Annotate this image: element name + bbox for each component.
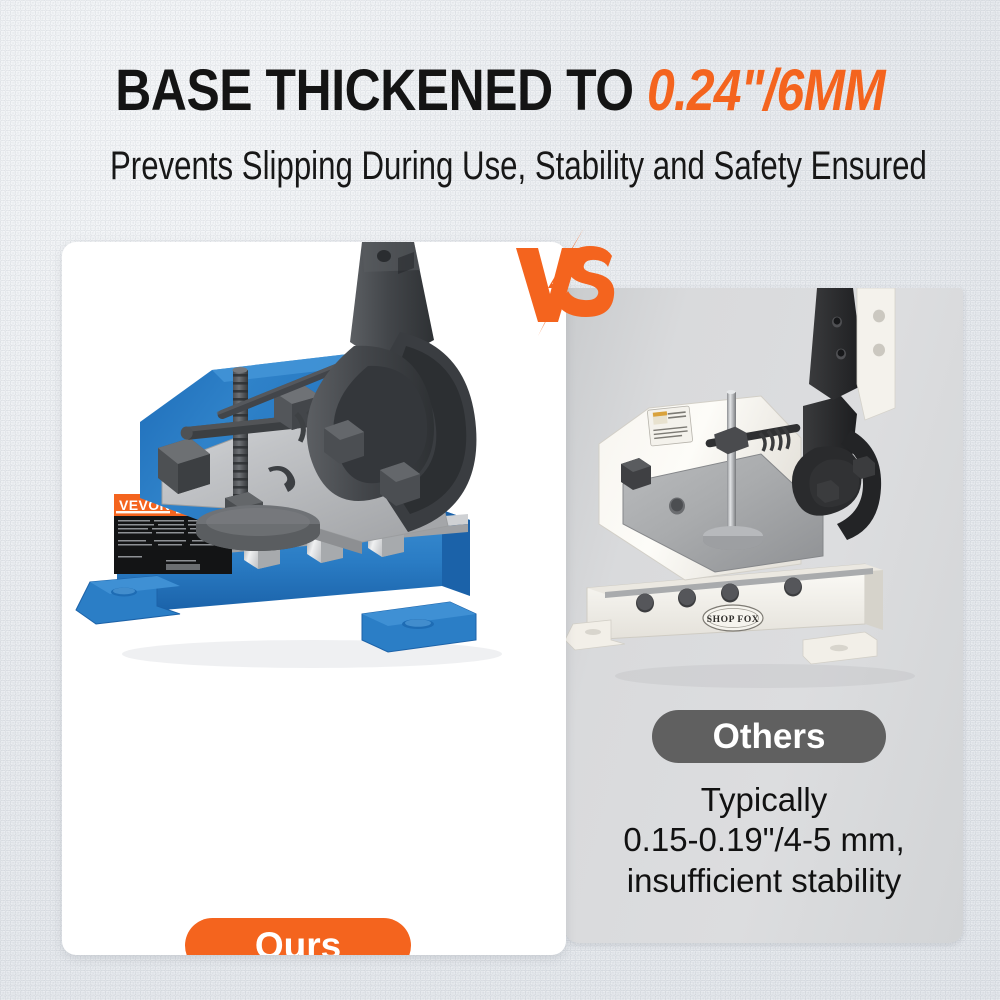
others-caption: Typically 0.15-0.19"/4-5 mm, insufficien… bbox=[575, 780, 953, 901]
headline-accent-text: 0.24"/6MM bbox=[647, 58, 885, 123]
page-title: BASE THICKENED TO 0.24"/6MM bbox=[0, 62, 1000, 120]
ours-badge-label: Ours bbox=[255, 925, 341, 956]
product-image-others: SHOP FOX bbox=[565, 288, 963, 708]
others-badge-label: Others bbox=[713, 717, 826, 757]
svg-text:SHOP FOX: SHOP FOX bbox=[707, 615, 760, 625]
others-caption-line-2: 0.15-0.19"/4-5 mm, bbox=[575, 820, 953, 860]
others-caption-line-3: insufficient stability bbox=[575, 861, 953, 901]
headline-plain-text: BASE THICKENED TO bbox=[115, 58, 647, 123]
comparison-panel-others: SHOP FOX bbox=[565, 288, 963, 943]
ours-badge: Ours bbox=[185, 918, 411, 955]
others-caption-line-1: Typically bbox=[575, 780, 953, 820]
page-subtitle: Prevents Slipping During Use, Stability … bbox=[110, 144, 890, 189]
comparison-panel-ours: VEVOR C● C● bbox=[62, 242, 566, 955]
vs-badge: VS bbox=[508, 228, 624, 336]
others-badge: Others bbox=[652, 710, 886, 763]
product-image-ours: VEVOR C● C● bbox=[62, 242, 566, 682]
